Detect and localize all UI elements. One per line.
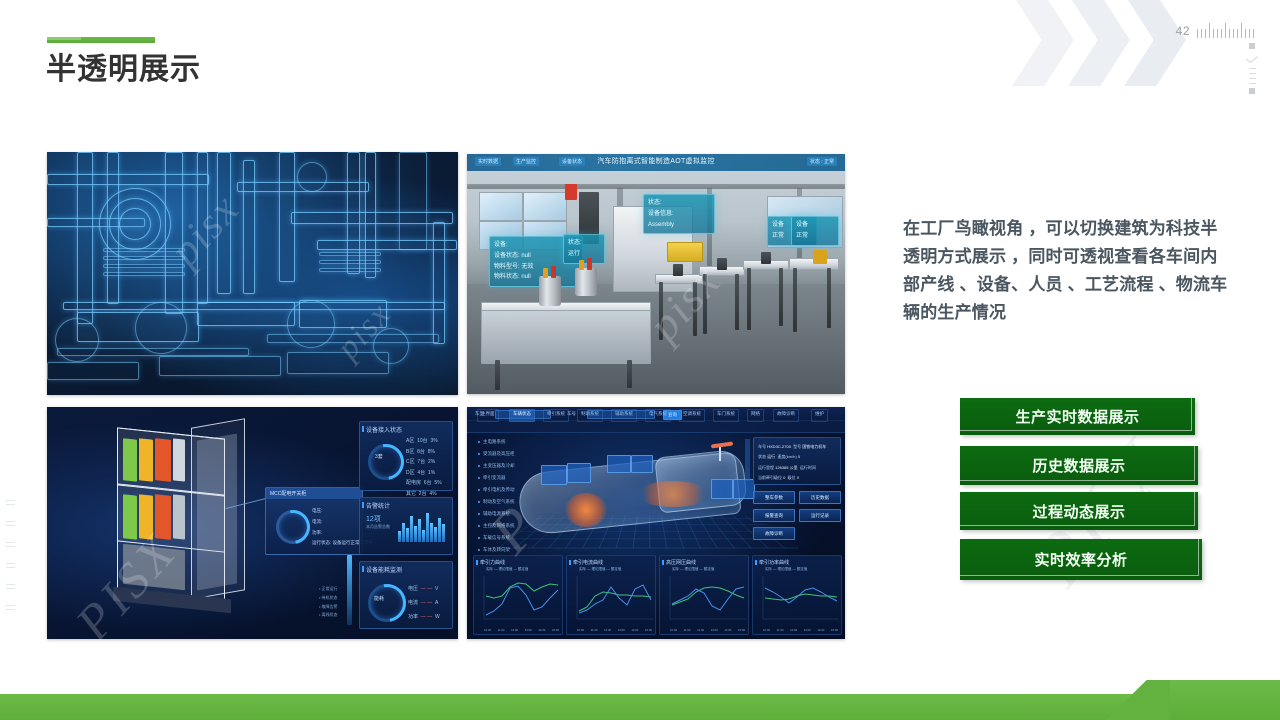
train-tag-2 [567,463,591,483]
train-nav-7[interactable]: 主控及网络系统 [483,523,515,529]
train-chart-0: 牵引力曲线 实际 — 理论限值 — 额定值 10:0011:00 12:0013… [473,555,563,635]
image-factory-workshop: 汽车防抱离式智能制造AOT虚拟监控 实时数据 生产监控 设备状态 状态 : 正常… [467,154,845,394]
train-action-3[interactable]: 运行记录 [799,509,841,522]
train-tag-5 [711,479,733,499]
train-chart-3-legend: 实际 — 理论限值 — 额定值 [765,567,807,572]
factory-chip-2: 生产监控 [513,157,539,166]
title-accent-bar [47,37,155,43]
train-chart-0-title: 牵引力曲线 [480,559,505,566]
train-tag-4 [631,455,653,473]
train-nav-6[interactable]: 辅助电源系统 [483,511,510,517]
train-tab-2[interactable]: 牵引系统 [543,409,569,422]
train-engine-glow [565,493,607,527]
footer-band-left [0,694,1160,720]
train-nav-2[interactable]: 主变压器及冷却 [483,463,515,469]
page-title: 半透明展示 [46,51,201,89]
body-paragraph: 在工厂鸟瞰视角 ，可以切换建筑为科技半透明方式展示 ，同时可透视查看各车间内部产… [903,215,1233,327]
train-tab-9[interactable]: 故障诊断 [773,409,799,422]
train-action-2[interactable]: 报警查询 [753,509,795,522]
button-historical-data[interactable]: 历史数据展示 [960,446,1198,485]
image-train-dashboard: 查询 车型 车号 主界面 车辆状态 牵引系统 制动系统 辅助系统 电气系统 空调… [467,407,845,639]
train-chart-1: 牵引电流曲线 实际 — 理论限值 — 额定值 10:0011:00 12:001… [566,555,656,635]
cabinet-panel-1-center: 3套 [375,453,383,460]
cabinet-panel-alarms: 告警统计 12项 本月告警总数 [359,497,453,555]
image-cabinet-dashboard: MCC配电开关柜 电压: 电流: 功率: 运行状态: 设备运行正常工作中 设备接… [47,407,458,639]
factory-hud-panel-1: 状态: 设备信息: Assembly [643,194,715,234]
left-edge-decoration [6,500,15,610]
cabinet-legend: • 正常运行• 待机状态• 故障告警• 离线状态 [319,585,338,620]
train-chart-2-legend: 实际 — 理论限值 — 额定值 [672,567,714,572]
button-process-dynamics[interactable]: 过程动态展示 [960,492,1198,530]
train-tab-6[interactable]: 空调系统 [679,409,705,422]
footer-band-right [1170,680,1280,720]
train-tag-1 [541,465,567,485]
factory-hud-panel-3: 状态: 运行 [563,234,605,264]
ruler-ticks-icon [1197,22,1254,38]
factory-hud-title: 汽车防抱离式智能制造AOT虚拟监控 [597,156,715,166]
image-wireframe-pipes: pisx pisx [47,152,458,395]
train-nav-1[interactable]: 受流器及高压柜 [483,451,515,457]
cabinet-kv-list: A区 10台 3% B区 8台 8% C区 7台 2% D区 4台 1% 配电房… [406,436,442,499]
train-info-panel: 车号 HXD3C-2700 型号 国铁电力机车 状态 运行 速度(km/h) 0… [753,437,841,485]
train-chart-2: 高压网压曲线 实际 — 理论限值 — 额定值 10:0011:00 12:001… [659,555,749,635]
cabinet-tooltip: MCC配电开关柜 电压: 电流: 功率: 运行状态: 设备运行正常工作中 [265,487,363,555]
factory-hud-panel-5: 设备 正常 [791,216,839,246]
train-chart-1-title: 牵引电流曲线 [573,559,603,566]
page-number: 42 [1176,25,1190,38]
button-realtime-production-data[interactable]: 生产实时数据展示 [960,398,1195,435]
cabinet-panel-3-center: 能耗 [374,595,384,602]
train-tab-4[interactable]: 辅助系统 [611,409,637,422]
train-nav-3[interactable]: 牵引变流器 [483,475,506,481]
train-chart-2-title: 高压网压曲线 [666,559,696,566]
cabinet-panel-energy: 设备能耗监测 能耗 电压 — — V 电流 — — A 功率 — — W [359,561,453,629]
train-nav-4[interactable]: 牵引电机及传动 [483,487,515,493]
square-icon-2 [1249,88,1255,94]
chevron-decoration [1012,0,1242,88]
train-chart-3: 牵引功率曲线 实际 — 理论限值 — 额定值 10:0011:00 12:001… [752,555,842,635]
train-tab-10[interactable]: 维护 [811,409,828,422]
cabinet-panel-2-value: 12项 [366,514,381,524]
train-tab-1[interactable]: 车辆状态 [509,409,535,422]
page-marker: 42 [1176,18,1254,38]
train-tab-3[interactable]: 制动系统 [577,409,603,422]
factory-chip-3: 设备状态 [559,157,585,166]
train-tab-8[interactable]: 网络 [747,409,764,422]
chevron-shape-1 [1012,0,1074,86]
chevron-shape-3 [1124,0,1186,86]
factory-status: 状态 : 正常 [807,157,837,166]
train-nav-0[interactable]: 主电路系统 [483,439,506,445]
cabinet-tooltip-title: MCC配电开关柜 [270,490,306,497]
cabinet-panel-1-title: 设备接入状态 [366,425,402,434]
train-chart-0-legend: 实际 — 理论限值 — 额定值 [486,567,528,572]
cabinet-panel-3-title: 设备能耗监测 [366,565,402,574]
train-chart-3-title: 牵引功率曲线 [759,559,789,566]
train-tag-6 [733,479,755,499]
square-icon [1249,43,1255,49]
train-tab-0[interactable]: 主界面 [477,409,499,422]
train-tab-7[interactable]: 车门系统 [713,409,739,422]
chevron-shape-2 [1068,0,1130,86]
cabinet-panel-2-sub: 本月告警总数 [366,524,390,530]
cabinet-panel-2-title: 告警统计 [366,501,390,510]
train-action-1[interactable]: 历史数据 [799,491,841,504]
train-nav-5[interactable]: 制动及空气系统 [483,499,515,505]
chevron-down-icon [1246,53,1259,63]
train-tab-5[interactable]: 电气系统 [645,409,671,422]
cabinet-panel-access: 设备接入状态 3套 A区 10台 3% B区 8台 8% C区 7台 2% D区… [359,421,453,491]
train-tag-3 [607,455,631,473]
right-edge-decoration [1246,43,1258,94]
train-chart-1-legend: 实际 — 理论限值 — 额定值 [579,567,621,572]
train-action-4[interactable]: 故障诊断 [753,527,795,540]
factory-chip-1: 实时数据 [475,157,501,166]
train-action-0[interactable]: 整车参数 [753,491,795,504]
button-realtime-efficiency-analysis[interactable]: 实时效率分析 [960,539,1202,580]
